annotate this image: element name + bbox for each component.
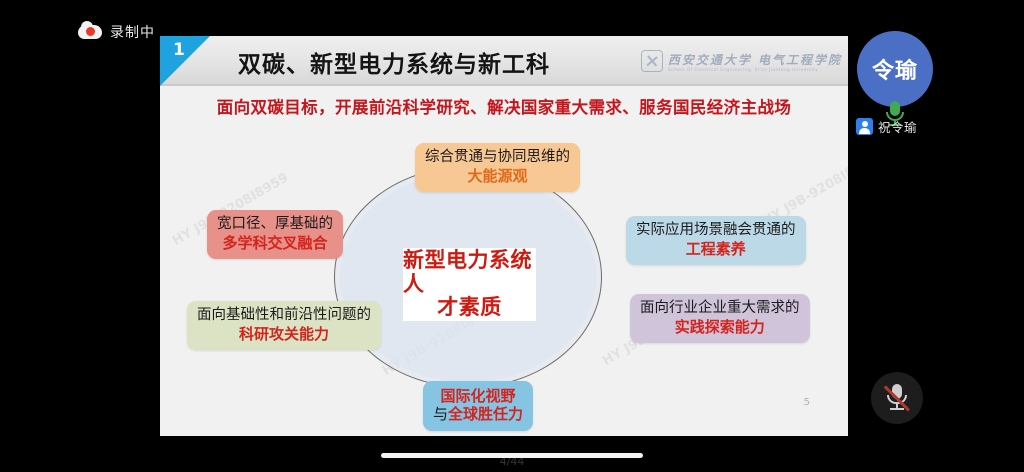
participant-name: 祝令瑜: [878, 117, 917, 136]
home-indicator[interactable]: [381, 453, 643, 458]
diagram-center-label: 新型电力系统人 才素质: [403, 248, 536, 321]
recording-dot-icon: [86, 27, 95, 36]
node-line1: 面向行业企业重大需求的: [640, 300, 800, 318]
person-icon: [856, 118, 873, 135]
node-line2: 实践探索能力: [640, 318, 800, 336]
diagram-node-right-lower: 面向行业企业重大需求的 实践探索能力: [630, 294, 810, 343]
avatar-initials: 令瑜: [872, 53, 918, 85]
node-line2: 科研攻关能力: [197, 325, 371, 343]
mic-muted-button[interactable]: [871, 372, 923, 424]
diagram-node-right-upper: 实际应用场景融会贯通的 工程素养: [626, 216, 806, 265]
slide-corner-number: 1: [173, 40, 185, 60]
recording-cloud-icon: [78, 25, 102, 39]
node-line2: 全球胜任力: [448, 405, 523, 423]
center-line1: 新型电力系统人: [403, 249, 536, 297]
node-line2: 工程素养: [636, 240, 796, 258]
slide-title: 双碳、新型电力系统与新工科: [238, 45, 550, 79]
node-line1: 实际应用场景融会贯通的: [636, 222, 796, 240]
slide-subtitle: 面向双碳目标，开展前沿科学研究、解决国家重大需求、服务国民经济主战场: [160, 94, 848, 118]
node-line2: 大能源观: [425, 167, 570, 185]
participant-name-row: 祝令瑜: [856, 117, 917, 136]
university-logo: 西安交通大学 电气工程学院 School Of Electrical Engin…: [641, 49, 842, 73]
center-line2: 才素质: [437, 296, 502, 320]
node-line1: 面向基础性和前沿性问题的: [197, 307, 371, 325]
diagram-node-bottom: 国际化视野 与全球胜任力: [423, 381, 533, 431]
university-emblem-icon: [641, 50, 663, 72]
node-line1: 国际化视野: [433, 387, 523, 405]
logo-text-en: School Of Electrical Engineering, Xi'an …: [668, 68, 842, 73]
app-screen: 录制中 HY J9B-9208I8959 HY J9B-9208I8959 HY…: [0, 0, 1024, 472]
diagram-node-left-upper: 宽口径、厚基础的 多学科交叉融合: [207, 210, 343, 259]
recording-indicator: 录制中: [78, 22, 155, 42]
corner-triangle-icon: [160, 36, 210, 86]
node-line1: 宽口径、厚基础的: [217, 216, 333, 234]
diagram-node-left-lower: 面向基础性和前沿性问题的 科研攻关能力: [187, 301, 381, 350]
slide-page-number: 5: [804, 397, 810, 408]
node-line1: 综合贯通与协同思维的: [425, 149, 570, 167]
slide-header: 1 双碳、新型电力系统与新工科 西安交通大学 电气工程学院 School Of …: [160, 36, 848, 86]
avatar[interactable]: 令瑜: [857, 31, 933, 107]
logo-text-cn: 西安交通大学 电气工程学院: [668, 53, 842, 67]
node-line2: 多学科交叉融合: [217, 234, 333, 252]
shared-slide[interactable]: HY J9B-9208I8959 HY J9B-9208I8959 HY J9B…: [160, 36, 848, 436]
diagram-node-top: 综合贯通与协同思维的 大能源观: [415, 143, 580, 192]
node-line2-prefix: 与: [433, 405, 448, 423]
node-line2-wrap: 与全球胜任力: [433, 405, 523, 423]
recording-label: 录制中: [110, 22, 155, 42]
